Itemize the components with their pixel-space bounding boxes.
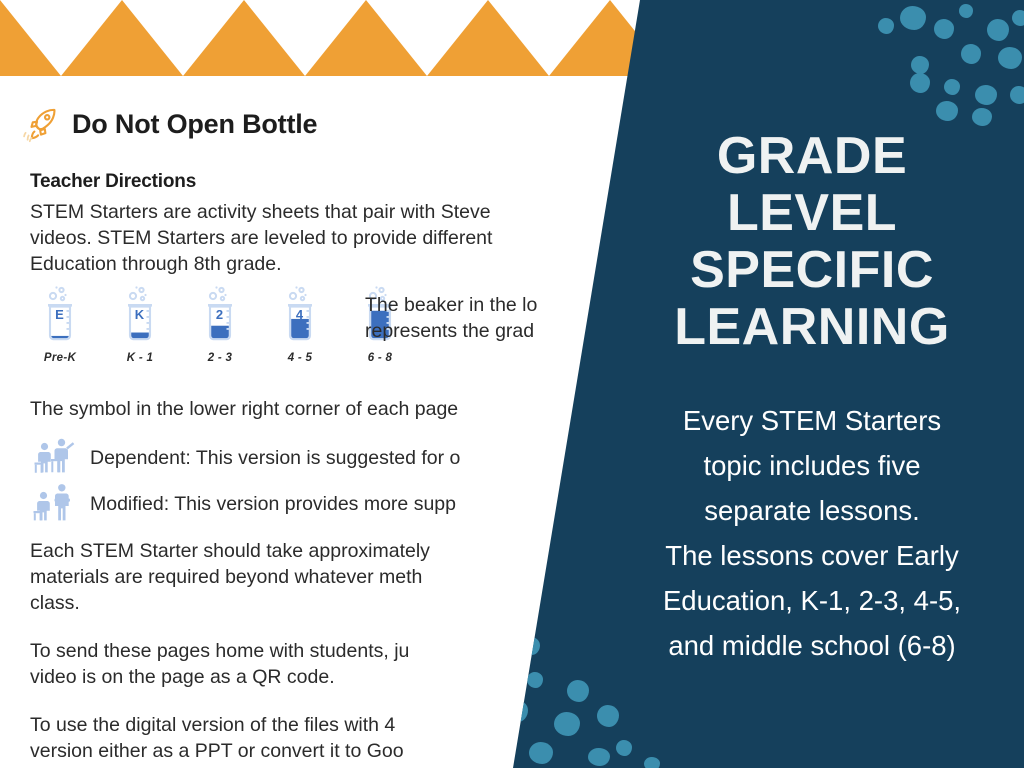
beaker-level-1: E Pre-K bbox=[32, 284, 88, 364]
beaker-label: Pre-K bbox=[32, 352, 88, 364]
beaker-icon: 2 bbox=[200, 284, 240, 346]
beaker-label: 4 - 5 bbox=[272, 352, 328, 364]
decorative-dot bbox=[567, 680, 589, 702]
beaker-level-3: 2 2 - 3 bbox=[192, 284, 248, 364]
magnifier-bug-icon bbox=[400, 6, 454, 60]
svg-text:2: 2 bbox=[216, 307, 223, 322]
svg-text:E: E bbox=[55, 307, 64, 322]
panel-headline: GRADE LEVEL SPECIFIC LEARNING bbox=[600, 128, 1024, 356]
beaker-note: The beaker in the lo represents the grad bbox=[365, 292, 537, 344]
beaker-icon: K bbox=[120, 284, 160, 346]
symbol-line: The symbol in the lower right corner of … bbox=[30, 396, 660, 422]
decorative-dot bbox=[554, 712, 580, 736]
beaker-label: 6 - 8 bbox=[352, 352, 408, 364]
beaker-label: K - 1 bbox=[112, 352, 168, 364]
panel-blurb: Every STEM Starters topic includes five … bbox=[608, 398, 1016, 668]
version-row-modified: Modified: This version provides more sup… bbox=[30, 482, 456, 526]
beaker-label: 2 - 3 bbox=[192, 352, 248, 364]
beaker-icon: 4 bbox=[280, 284, 320, 346]
version-row-dependent: Dependent: This version is suggested for… bbox=[30, 436, 460, 480]
storm-cloud-icon bbox=[278, 6, 332, 60]
teacher-directions-heading: Teacher Directions bbox=[30, 171, 196, 193]
decorative-dot bbox=[529, 742, 553, 764]
beaker-legend: E Pre-K K bbox=[32, 284, 408, 364]
document-title: Do Not Open Bottle bbox=[72, 109, 317, 140]
svg-text:K: K bbox=[135, 307, 145, 322]
version-dependent-text: Dependent: This version is suggested for… bbox=[90, 447, 460, 470]
document-title-row: Do Not Open Bottle bbox=[22, 104, 317, 144]
version-modified-text: Modified: This version provides more sup… bbox=[90, 493, 456, 516]
dependent-people-icon bbox=[30, 436, 76, 480]
decorative-dot bbox=[527, 672, 543, 688]
beaker-level-2: K K - 1 bbox=[112, 284, 168, 364]
bacteria-icon bbox=[34, 6, 88, 60]
atom-icon bbox=[156, 6, 210, 60]
beaker-level-4: 4 4 - 5 bbox=[272, 284, 328, 364]
beaker-icon: E bbox=[40, 284, 80, 346]
intro-paragraph: STEM Starters are activity sheets that p… bbox=[30, 199, 660, 277]
navy-panel-content: GRADE LEVEL SPECIFIC LEARNING Every STEM… bbox=[600, 0, 1024, 768]
volcano-icon bbox=[522, 6, 576, 60]
modified-people-icon bbox=[30, 482, 76, 526]
slide-canvas: Do Not Open Bottle Teacher Directions ST… bbox=[0, 0, 1024, 768]
rocket-icon bbox=[22, 104, 62, 144]
svg-text:4: 4 bbox=[296, 307, 304, 322]
